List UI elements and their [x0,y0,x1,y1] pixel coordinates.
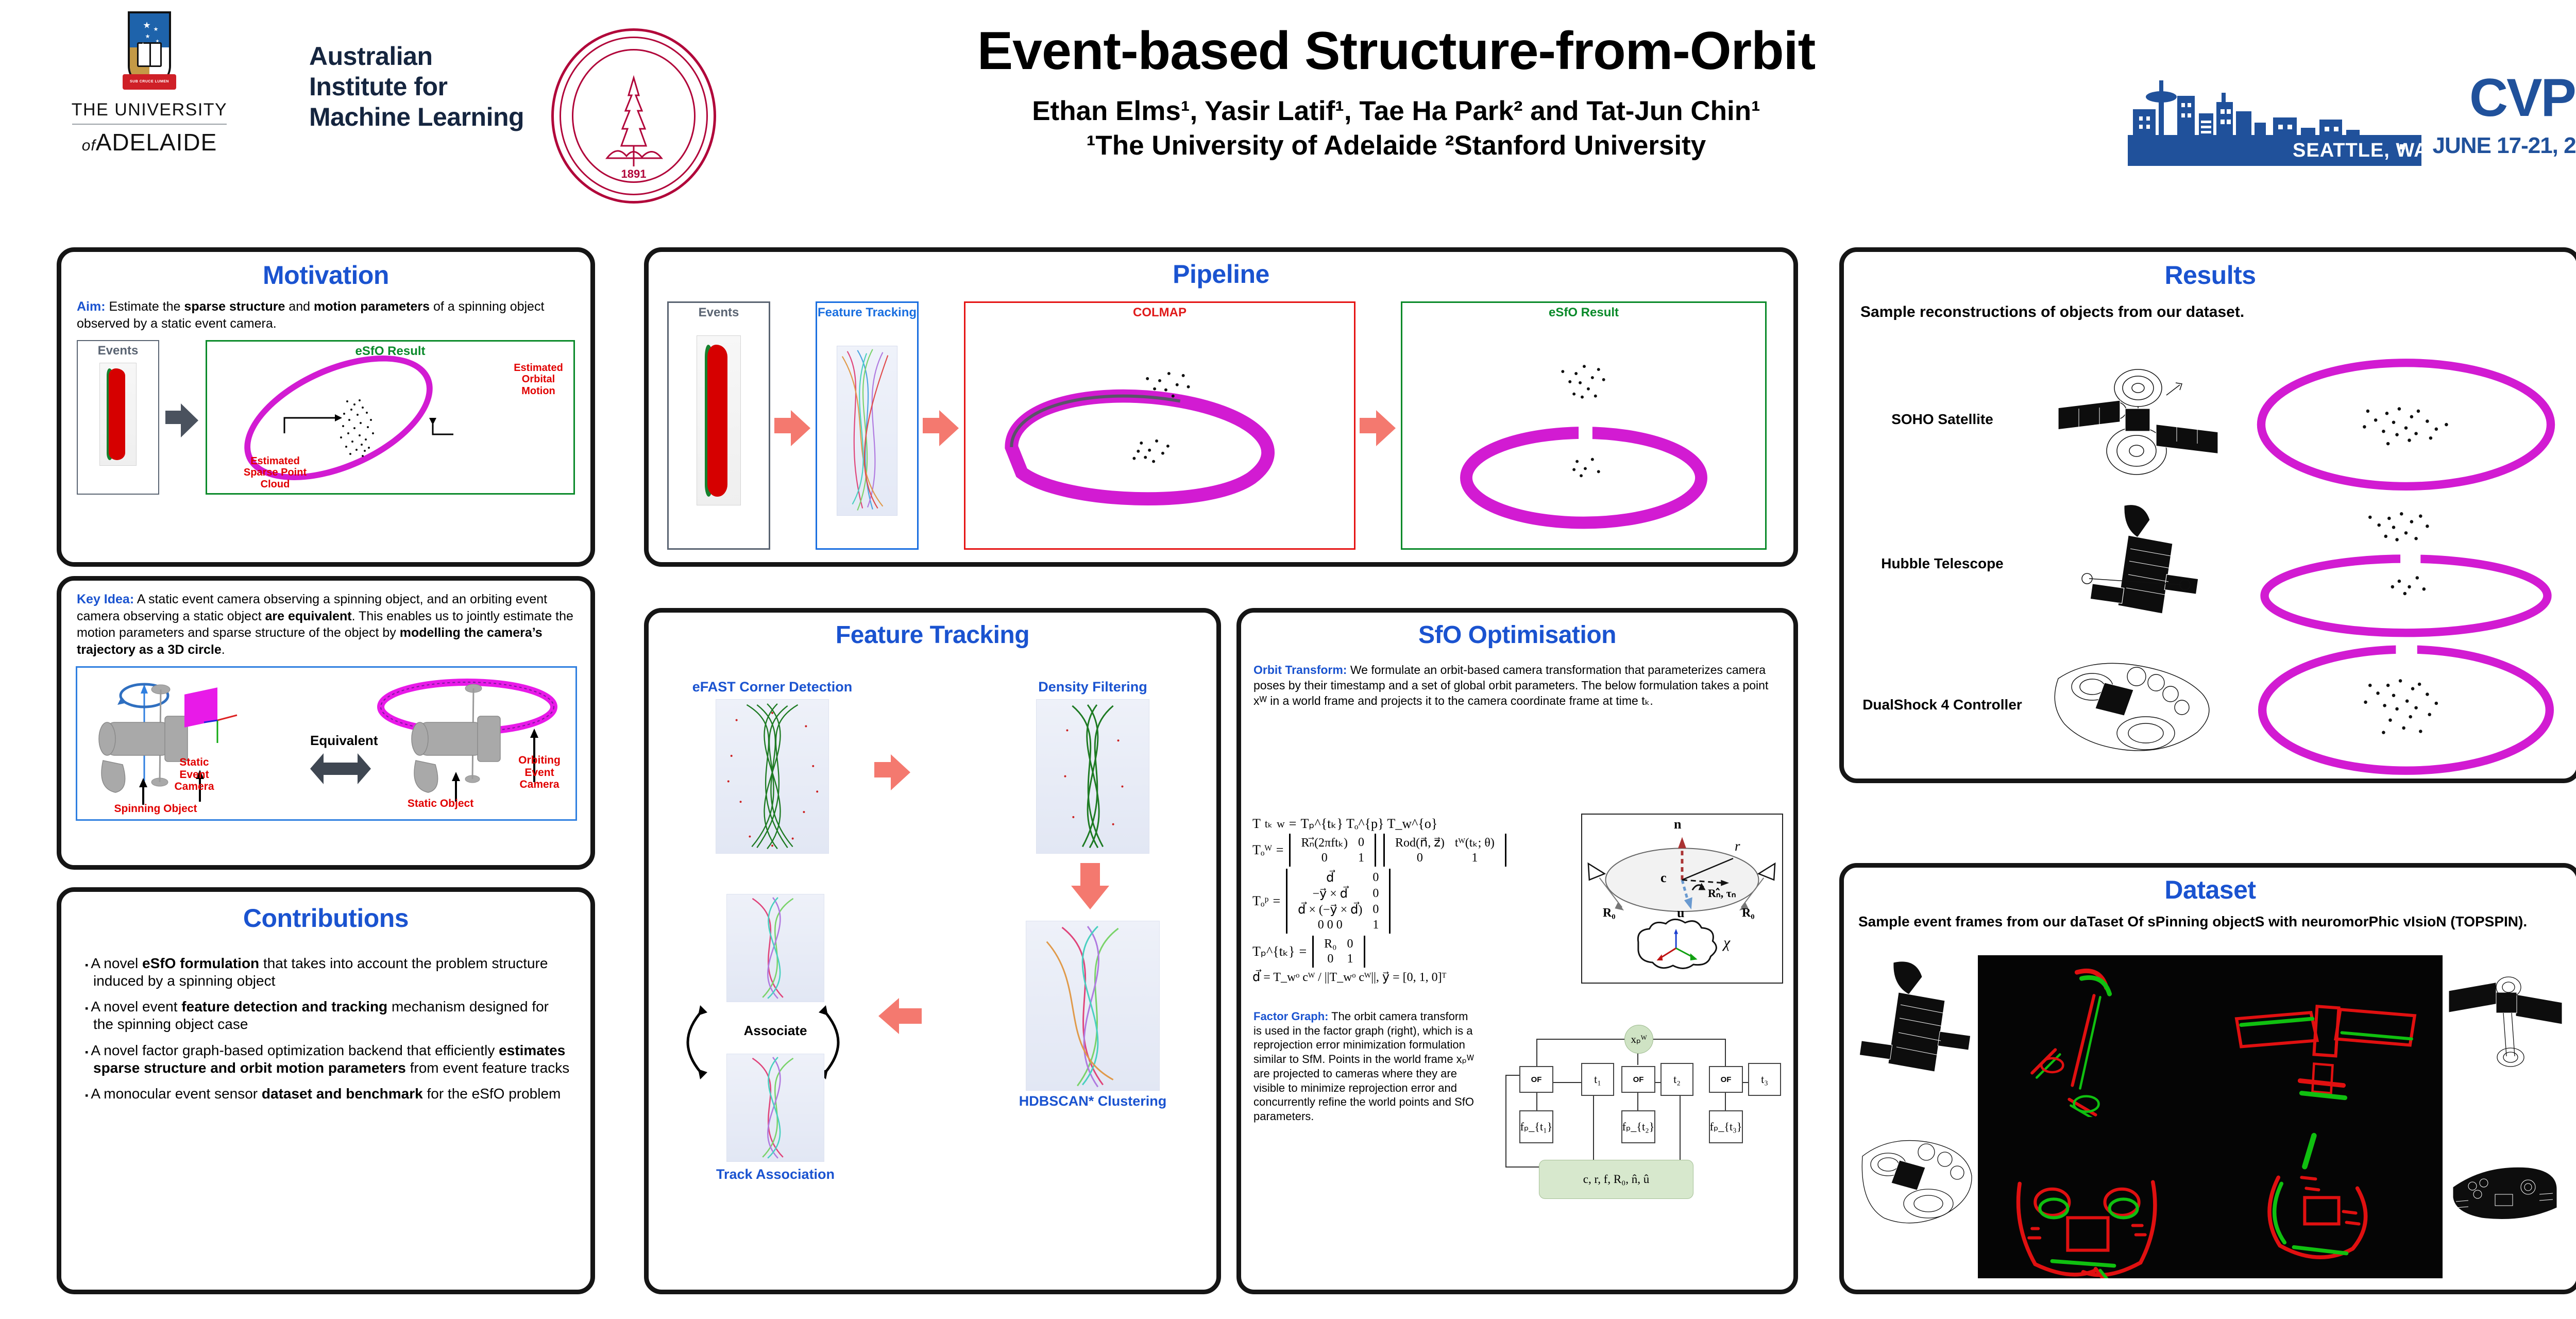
label-spinning-object: Spinning Object [109,803,202,815]
list-item: A novel event feature detection and trac… [85,998,570,1033]
equation-row: Tₚ^{tₖ}= R₀0 01 [1252,936,1582,968]
motivation-figures: Events eSfO Result [77,340,575,495]
dataset-subtitle: Sample event frames from our daTaset Of … [1858,913,2564,931]
label-static-object: Static Object [397,798,484,810]
result-object-name: SOHO Satellite [1857,411,2027,428]
affiliation-list: ¹The University of Adelaide ²Stanford Un… [737,130,2056,161]
feature-node: fₚ_{t₃} [1709,1110,1743,1143]
feature-track-render [837,346,897,516]
annot-sparse-point-cloud: Estimated Sparse Point Cloud [239,455,311,490]
orbit-center-label: c [1660,870,1667,886]
ft-step-label: HDBSCAN* Clustering [990,1094,1196,1109]
events-figure-label: Events [78,341,158,358]
adelaide-divider [72,124,227,125]
orbit-parameters-node: c, r, f, R₀, n̂, û [1539,1160,1693,1199]
results-row-dualshock: DualShock 4 Controller [1857,635,2563,774]
time-node: t₃ [1748,1063,1781,1096]
orbit-geometry-diagram: n⃗ c r u⃗ Rₙ̂, τₙ R₀ R₀ χ [1581,814,1783,984]
pipeline-arrow-icon [1355,408,1401,444]
density-filtering-render [1036,699,1149,854]
equivalence-diagram: Spinning Object Static Event Camera Equi… [76,666,577,821]
associate-label: Associate [744,1023,807,1039]
track-association-render-bottom [726,1054,824,1162]
hubble-reconstruction [2249,499,2563,628]
poster-header: SUB CRUCE LUMEN THE UNIVERSITY ofADELAID… [0,0,2576,232]
factor-node-of: OF [1621,1066,1655,1093]
orbit-u-label: u⃗ [1677,905,1695,921]
track-association-render-top [726,894,824,1002]
efast-render [716,699,829,854]
eq2-lhs: Tₒᵂ [1252,842,1272,858]
equivalence-double-arrow-icon [310,753,371,784]
aim-label: Aim: [77,299,106,314]
event-volume-render [99,363,137,466]
pipeline-stage-feature-tracking: Feature Tracking [816,301,919,550]
factor-node-of: OF [1519,1066,1553,1093]
contributions-title: Contributions [61,903,590,933]
orbit-radius-label: r [1735,838,1740,854]
hubble-telescope-model [2027,499,2249,628]
cvpr-date: JUNE 17-21, 2024 [2370,133,2576,159]
pipeline-arrow-icon [770,408,816,444]
ft-arrow-right-icon [870,752,916,788]
event-frame-dualshock-2 [2210,1117,2443,1279]
event-frame-grid [1978,955,2443,1278]
results-title: Results [1844,260,2576,290]
contributions-list: A novel eSfO formulation that takes into… [85,955,570,1103]
stanford-year: 1891 [551,167,716,181]
panel-results: Results Sample reconstructions of object… [1839,247,2576,783]
results-subtitle: Sample reconstructions of objects from o… [1860,303,2576,321]
eq4-lhs: Tₚ^{tₖ} [1252,944,1295,959]
title-block: Event-based Structure-from-Orbit Ethan E… [737,21,2056,161]
ft-step-label: eFAST Corner Detection [674,680,870,695]
equation-row: Ttₖw =Tₚ^{tₖ} Tₒ^{p} T_w^{o} [1252,816,1582,832]
hubble-model-thumb [1856,955,1975,1117]
pipeline-stage-colmap: COLMAP [964,301,1355,550]
pipeline-stage-label: eSfO Result [1402,303,1765,320]
orbit-rotation-label: Rₙ̂, τₙ [1708,887,1736,900]
list-item: A monocular event sensor dataset and ben… [85,1085,570,1103]
pipeline-stage-esfo-result: eSfO Result [1401,301,1767,550]
orbiting-camera-illustration [364,673,570,812]
feature-node: fₚ_{t₁} [1519,1110,1553,1143]
orbit-transform-equations: Ttₖw =Tₚ^{tₖ} Tₒ^{p} T_w^{o} Tₒᵂ= Rₙ⃗(2π… [1252,816,1582,987]
pipeline-stage-label: Feature Tracking [817,303,917,320]
pipeline-stage-row: Events Feature Tracking [667,301,1775,550]
dualshock-model-thumb-2 [2446,1117,2564,1279]
dataset-title: Dataset [1844,875,2576,905]
pipeline-stage-events: Events [667,301,770,550]
orbit-normal-label: n⃗ [1674,817,1692,832]
adelaide-crest-icon: SUB CRUCE LUMEN [124,11,175,94]
stanford-university-seal: 1891 [536,18,732,214]
orbit-transform-text: Orbit Transform: We formulate an orbit-b… [1253,663,1782,709]
panel-motivation: Motivation Aim: Estimate the sparse stru… [57,247,595,567]
world-point-node: xₚᵂ [1624,1025,1653,1054]
adelaide-of-prefix: of [82,137,96,154]
ft-step-label: Track Association [688,1167,863,1182]
author-list: Ethan Elms¹, Yasir Latif¹, Tae Ha Park² … [737,95,2056,127]
result-object-name: DualShock 4 Controller [1857,697,2027,713]
panel-key-idea: Key Idea: A static event camera observin… [57,576,595,870]
feature-tracking-grid: eFAST Corner Detection [664,659,1201,1277]
orbit-transform-label: Orbit Transform: [1253,663,1347,677]
dataset-models-left [1856,955,1975,1278]
panel-dataset: Dataset Sample event frames from our daT… [1839,863,2576,1294]
sfo-title: SfO Optimisation [1241,621,1793,649]
hdbscan-render [1026,921,1160,1091]
panel-contributions: Contributions A novel eSfO formulation t… [57,887,595,1294]
result-object-name: Hubble Telescope [1857,555,2027,572]
label-orbiting-event-camera: Orbiting Event Camera [510,754,569,791]
adelaide-motto-ribbon: SUB CRUCE LUMEN [123,74,176,90]
motivation-title: Motivation [61,260,590,290]
pipeline-title: Pipeline [649,259,1793,289]
adelaide-line1: THE UNIVERSITY [72,100,227,120]
eq3-lhs: Tₒᵖ [1252,893,1268,909]
event-frame-soho-1 [2210,955,2443,1117]
ft-arrow-left-icon [878,998,926,1034]
key-idea-label: Key Idea: [77,592,134,606]
equation-row-d-definition: d⃗ = T_wᵒ cᵂ / ||T_wᵒ cᵂ||, y⃗ = [0, 1, … [1252,970,1582,985]
factor-graph-diagram: xₚᵂ OF OF OF t₁ t₂ t₃ fₚ_{t₁} fₚ_{t₂} fₚ… [1483,1009,1786,1236]
factor-node-of: OF [1709,1066,1743,1093]
eq2-matrix-2: Rod(n⃗, z⃗)tᵂ(tₖ; θ) 01 [1383,834,1506,867]
eq1-rhs: Tₚ^{tₖ} Tₒ^{p} T_w^{o} [1300,816,1437,832]
events-figure: Events [77,340,159,495]
time-node: t₁ [1581,1063,1614,1096]
dataset-models-right [2446,955,2564,1278]
equation-row: Tₒᵂ= Rₙ⃗(2πftₖ)0 01 Rod(n⃗, z⃗)tᵂ(tₖ; θ)… [1252,834,1582,867]
orbit-chi-label: χ [1723,934,1730,952]
dualshock-reconstruction [2249,640,2563,769]
dataset-gallery [1856,955,2564,1278]
ft-step-density-filtering: Density Filtering [995,680,1191,854]
feature-tracking-title: Feature Tracking [649,621,1216,649]
university-of-adelaide-logo: SUB CRUCE LUMEN THE UNIVERSITY ofADELAID… [57,11,242,217]
colmap-reconstruction-render [965,324,1354,545]
motivation-aim-text: Aim: Estimate the sparse structure and m… [77,298,576,332]
orbit-r0-left-label: R₀ [1603,906,1616,920]
ft-step-hdbscan: HDBSCAN* Clustering [990,917,1196,1109]
panel-pipeline: Pipeline Events Feature Tracking [644,247,1798,567]
label-static-event-camera: Static Event Camera [171,756,217,793]
soho-model-thumb [2446,955,2564,1117]
soho-satellite-model [2027,355,2249,484]
adelaide-line2: ofADELAIDE [82,128,217,156]
list-item: A novel eSfO formulation that takes into… [85,955,570,990]
annot-orbital-motion: Estimated Orbital Motion [507,362,569,397]
time-node: t₂ [1660,1063,1693,1096]
feature-node: fₚ_{t₂} [1621,1110,1655,1143]
event-frame-hubble-1 [1978,955,2210,1117]
list-item: A novel factor graph-based optimization … [85,1042,570,1077]
panel-feature-tracking: Feature Tracking eFAST Corner Detection [644,608,1221,1294]
esfo-result-render [1402,324,1765,545]
eq2-matrix-1: Rₙ⃗(2πftₖ)0 01 [1289,834,1376,867]
results-row-hubble: Hubble Telescope [1857,494,2563,633]
adelaide-motto-text: SUB CRUCE LUMEN [123,74,176,90]
factor-graph-label: Factor Graph: [1253,1010,1328,1023]
cvpr-logo: SEATTLE, WA CVPR JUNE 17-21, 2024 [2128,57,2576,185]
ft-arrow-down-icon [1071,863,1109,910]
esfo-result-figure: eSfO Result [206,340,575,495]
poster-root: SUB CRUCE LUMEN THE UNIVERSITY ofADELAID… [0,0,2576,1319]
results-row-soho: SOHO Satellite [1857,350,2563,489]
ft-step-track-association: Associate Track Association [688,890,863,1182]
eq1-lhs: T [1252,816,1261,832]
pipeline-stage-label: COLMAP [965,303,1354,320]
ft-step-label: Density Filtering [995,680,1191,695]
dualshock-controller-model [2027,640,2249,769]
aiml-logo: Australian Institute for Machine Learnin… [309,41,531,132]
poster-title: Event-based Structure-from-Orbit [737,21,2056,82]
orbit-r0-right-label: R₀ [1742,906,1755,920]
pipeline-arrow-icon [919,408,964,444]
dualshock-model-thumb [1856,1117,1975,1279]
event-frame-dualshock-1 [1978,1117,2210,1279]
factor-graph-text: Factor Graph: The orbit camera transform… [1253,1009,1475,1124]
ft-step-efast: eFAST Corner Detection [674,680,870,854]
pipeline-stage-label: Events [669,303,769,320]
eq4-matrix: R₀0 01 [1312,936,1365,968]
eq3-matrix: d⃗0 −y⃗ × d⃗0 d⃗ × (−y⃗ × d⃗)0 0 0 01 [1286,869,1391,934]
pipeline-arrow-icon [165,400,199,434]
cvpr-wordmark: CVPR [2370,74,2576,123]
panel-sfo-optimisation: SfO Optimisation Orbit Transform: We for… [1236,608,1798,1294]
key-idea-text: Key Idea: A static event camera observin… [77,591,576,658]
soho-reconstruction [2249,355,2563,484]
equation-row: Tₒᵖ= d⃗0 −y⃗ × d⃗0 d⃗ × (−y⃗ × d⃗)0 0 0 … [1252,869,1582,934]
events-volume-render [697,335,741,505]
sparse-point-cloud [336,398,398,460]
